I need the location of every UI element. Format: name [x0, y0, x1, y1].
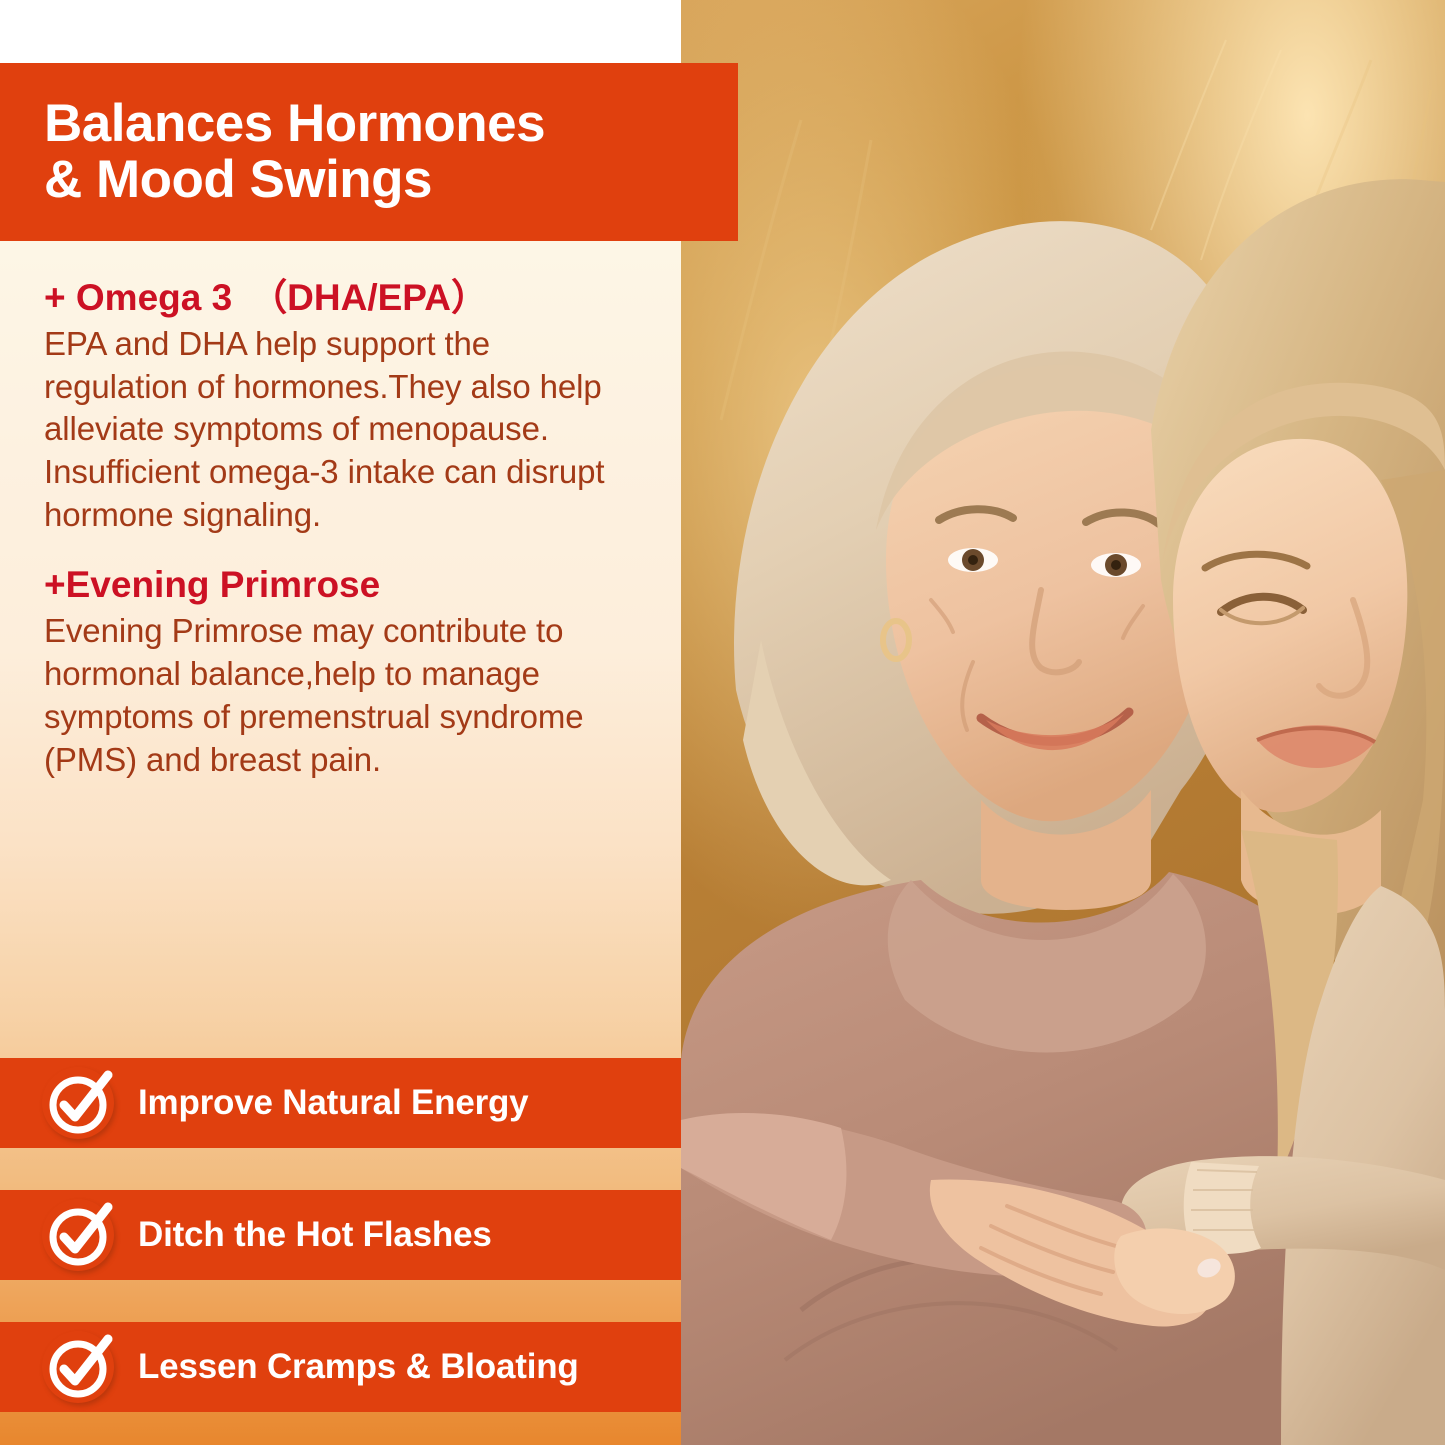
benefits-list: Improve Natural Energy Ditch the Hot Fla… — [0, 1058, 681, 1412]
check-circle-icon — [42, 1199, 114, 1271]
check-circle-icon — [42, 1067, 114, 1139]
header-banner: Balances Hormones & Mood Swings — [0, 63, 738, 241]
photo-illustration — [681, 0, 1445, 1445]
product-infographic: Balances Hormones & Mood Swings + Omega … — [0, 0, 1445, 1445]
check-circle-icon — [42, 1331, 114, 1403]
benefit-item[interactable]: Improve Natural Energy — [0, 1058, 681, 1148]
section-omega3: + Omega 3（DHA/EPA） EPA and DHA help supp… — [0, 241, 681, 537]
benefit-item[interactable]: Ditch the Hot Flashes — [0, 1190, 681, 1280]
section-evening-primrose-heading: +Evening Primrose — [44, 565, 635, 606]
section-omega3-heading: + Omega 3（DHA/EPA） — [44, 278, 635, 319]
section-evening-primrose-body: Evening Primrose may contribute to hormo… — [44, 610, 635, 782]
top-white-spacer — [0, 0, 681, 63]
section-evening-primrose: +Evening Primrose Evening Primrose may c… — [0, 537, 681, 781]
section-omega3-heading-main: + Omega 3 — [44, 277, 232, 318]
page-title: Balances Hormones & Mood Swings — [0, 96, 555, 208]
lifestyle-photo — [681, 0, 1445, 1445]
benefit-item[interactable]: Lessen Cramps & Bloating — [0, 1322, 681, 1412]
section-omega3-body: EPA and DHA help support the regulation … — [44, 323, 635, 537]
section-omega3-heading-paren: （DHA/EPA） — [250, 277, 488, 318]
